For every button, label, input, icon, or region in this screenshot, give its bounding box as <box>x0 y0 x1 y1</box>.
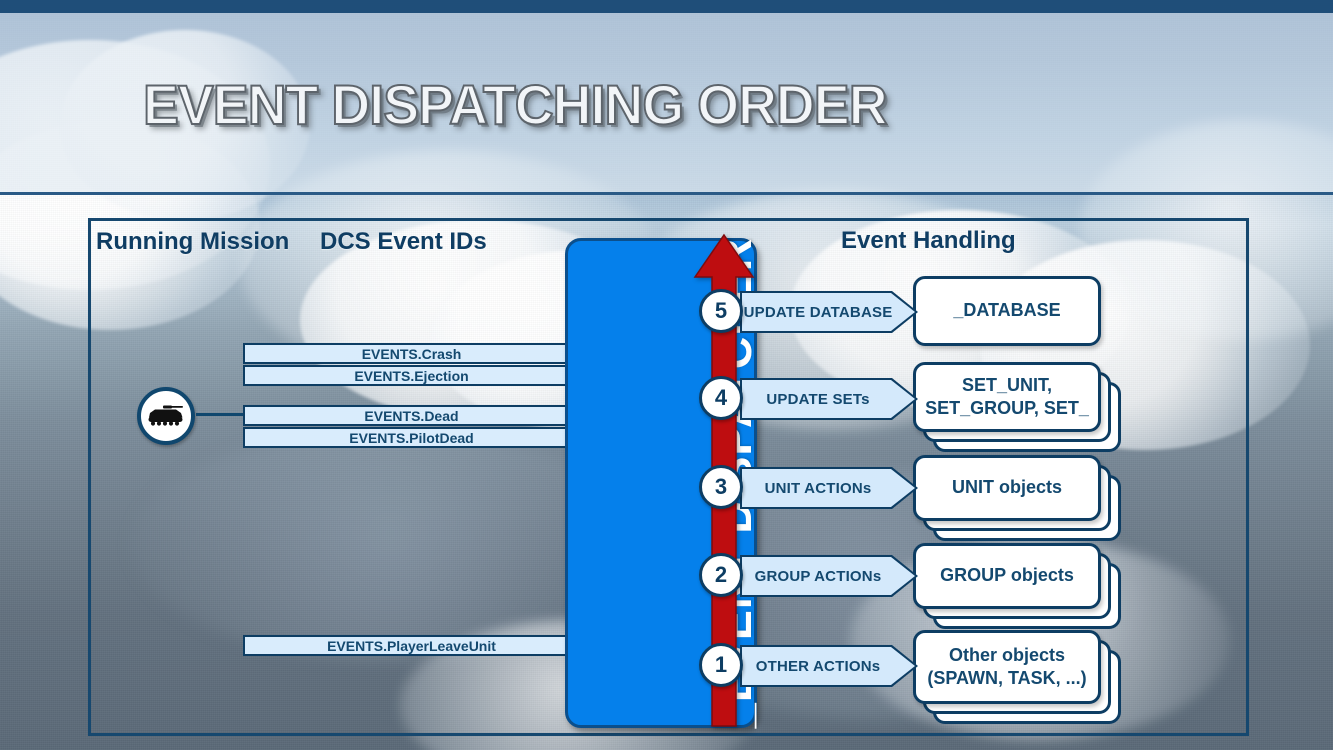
target-card-stack-unit-objects[interactable]: UNIT objects <box>913 455 1125 547</box>
target-card-stack-other-objects[interactable]: Other objects (SPAWN, TASK, ...) <box>913 630 1125 730</box>
action-chevron-other-actions[interactable]: OTHER ACTIONs <box>740 645 918 687</box>
target-card: _DATABASE <box>913 276 1101 346</box>
step-number-3: 3 <box>699 465 743 509</box>
slide-canvas: EVENT DISPATCHING ORDER Running Mission … <box>0 0 1333 750</box>
target-card: GROUP objects <box>913 543 1101 609</box>
action-chevron-group-actions[interactable]: GROUP ACTIONs <box>740 555 918 597</box>
column-heading-event-handling: Event Handling <box>841 227 1016 255</box>
action-label: UNIT ACTIONs <box>765 480 872 497</box>
action-label: UPDATE DATABASE <box>744 304 893 321</box>
tank-icon <box>137 387 195 445</box>
event-arrow-ejection[interactable]: EVENTS.Ejection <box>243 365 580 386</box>
tank-connector-line <box>196 413 248 416</box>
column-heading-running-mission: Running Mission <box>96 228 289 256</box>
target-card: UNIT objects <box>913 455 1101 521</box>
event-arrow-label: EVENTS.Ejection <box>354 368 468 384</box>
action-label: OTHER ACTIONs <box>756 658 881 675</box>
target-card-label: _DATABASE <box>953 299 1060 322</box>
target-card-label: Other objects (SPAWN, TASK, ...) <box>927 644 1086 690</box>
target-card-label: SET_UNIT, SET_GROUP, SET_ <box>925 374 1089 420</box>
event-arrow-playerleaveunit[interactable]: EVENTS.PlayerLeaveUnit <box>243 635 580 656</box>
page-title: EVENT DISPATCHING ORDER <box>143 72 887 137</box>
action-label: UPDATE SETs <box>766 391 869 408</box>
action-chevron-update-sets[interactable]: UPDATE SETs <box>740 378 918 420</box>
step-number-2: 2 <box>699 553 743 597</box>
event-arrow-label: EVENTS.Crash <box>362 346 462 362</box>
event-arrow-dead[interactable]: EVENTS.Dead <box>243 405 580 426</box>
action-label: GROUP ACTIONs <box>755 568 882 585</box>
event-arrow-crash[interactable]: EVENTS.Crash <box>243 343 580 364</box>
top-accent-bar <box>0 0 1333 13</box>
step-number-1: 1 <box>699 643 743 687</box>
target-card-stack-database[interactable]: _DATABASE <box>913 276 1125 348</box>
target-card-label: GROUP objects <box>940 564 1074 587</box>
step-number-value: 5 <box>715 298 727 324</box>
target-card: Other objects (SPAWN, TASK, ...) <box>913 630 1101 704</box>
step-number-5: 5 <box>699 289 743 333</box>
event-arrow-label: EVENTS.PlayerLeaveUnit <box>327 638 496 654</box>
event-arrow-pilotdead[interactable]: EVENTS.PilotDead <box>243 427 580 448</box>
step-number-value: 4 <box>715 385 727 411</box>
step-number-value: 1 <box>715 652 727 678</box>
target-card-stack-sets[interactable]: SET_UNIT, SET_GROUP, SET_ <box>913 362 1125 454</box>
target-card-stack-group-objects[interactable]: GROUP objects <box>913 543 1125 635</box>
action-chevron-unit-actions[interactable]: UNIT ACTIONs <box>740 467 918 509</box>
event-arrow-label: EVENTS.Dead <box>364 408 458 424</box>
step-number-value: 2 <box>715 562 727 588</box>
target-card: SET_UNIT, SET_GROUP, SET_ <box>913 362 1101 432</box>
target-card-label: UNIT objects <box>952 476 1062 499</box>
action-chevron-update-database[interactable]: UPDATE DATABASE <box>740 291 918 333</box>
step-number-value: 3 <box>715 474 727 500</box>
column-heading-dcs-event-ids: DCS Event IDs <box>320 228 487 256</box>
event-arrow-label: EVENTS.PilotDead <box>349 430 473 446</box>
step-number-4: 4 <box>699 376 743 420</box>
